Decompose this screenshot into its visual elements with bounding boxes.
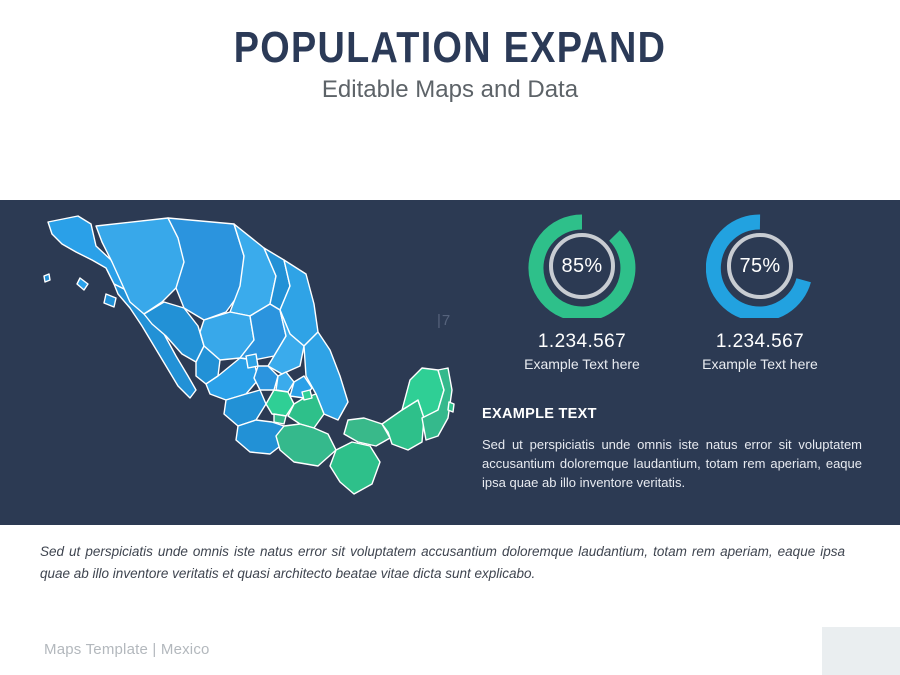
corner-accent-box: [822, 627, 900, 675]
map-state-oaxaca: [276, 424, 336, 466]
slide-header: POPULATION EXPAND Editable Maps and Data: [0, 0, 900, 200]
map-island-cozumel: [448, 402, 454, 412]
slide-root: POPULATION EXPAND Editable Maps and Data: [0, 0, 900, 675]
donut-chart-2: 75%: [670, 214, 850, 318]
map-island-angel: [77, 278, 88, 290]
map-state-tlaxcala: [302, 390, 312, 400]
example-body: Sed ut perspiciatis unde omnis iste natu…: [482, 435, 862, 492]
mexico-map[interactable]: [18, 204, 458, 519]
stat-card-1: 85% 1.234.567 Example Text here: [492, 214, 672, 373]
map-island-tiburon: [104, 294, 116, 307]
example-text-block: EXAMPLE TEXT Sed ut perspiciatis unde om…: [482, 405, 862, 492]
stat-caption-2: Example Text here: [670, 355, 850, 373]
map-state-chiapas: [330, 442, 380, 494]
page-marker: |7: [437, 312, 451, 329]
stat-caption-1: Example Text here: [492, 355, 672, 373]
stat-number-2: 1.234.567: [670, 331, 850, 353]
brand-label: Maps Template | Mexico: [44, 641, 210, 658]
map-state-morelos: [274, 414, 286, 424]
map-state-aguascalientes: [246, 354, 258, 368]
page-title: POPULATION EXPAND: [63, 22, 837, 74]
map-island-cedros: [44, 274, 50, 282]
stat-number-1: 1.234.567: [492, 331, 672, 353]
example-heading: EXAMPLE TEXT: [482, 405, 862, 423]
donut-chart-1: 85%: [492, 214, 672, 318]
donut-percent-label-1: 85%: [492, 214, 672, 318]
footer-note: Sed ut perspiciatis unde omnis iste natu…: [40, 541, 845, 585]
donut-percent-label-2: 75%: [670, 214, 850, 318]
stat-card-2: 75% 1.234.567 Example Text here: [670, 214, 850, 373]
content-panel: |7 85% 1.234.567 Example Text here: [0, 200, 900, 525]
page-subtitle: Editable Maps and Data: [0, 74, 900, 106]
